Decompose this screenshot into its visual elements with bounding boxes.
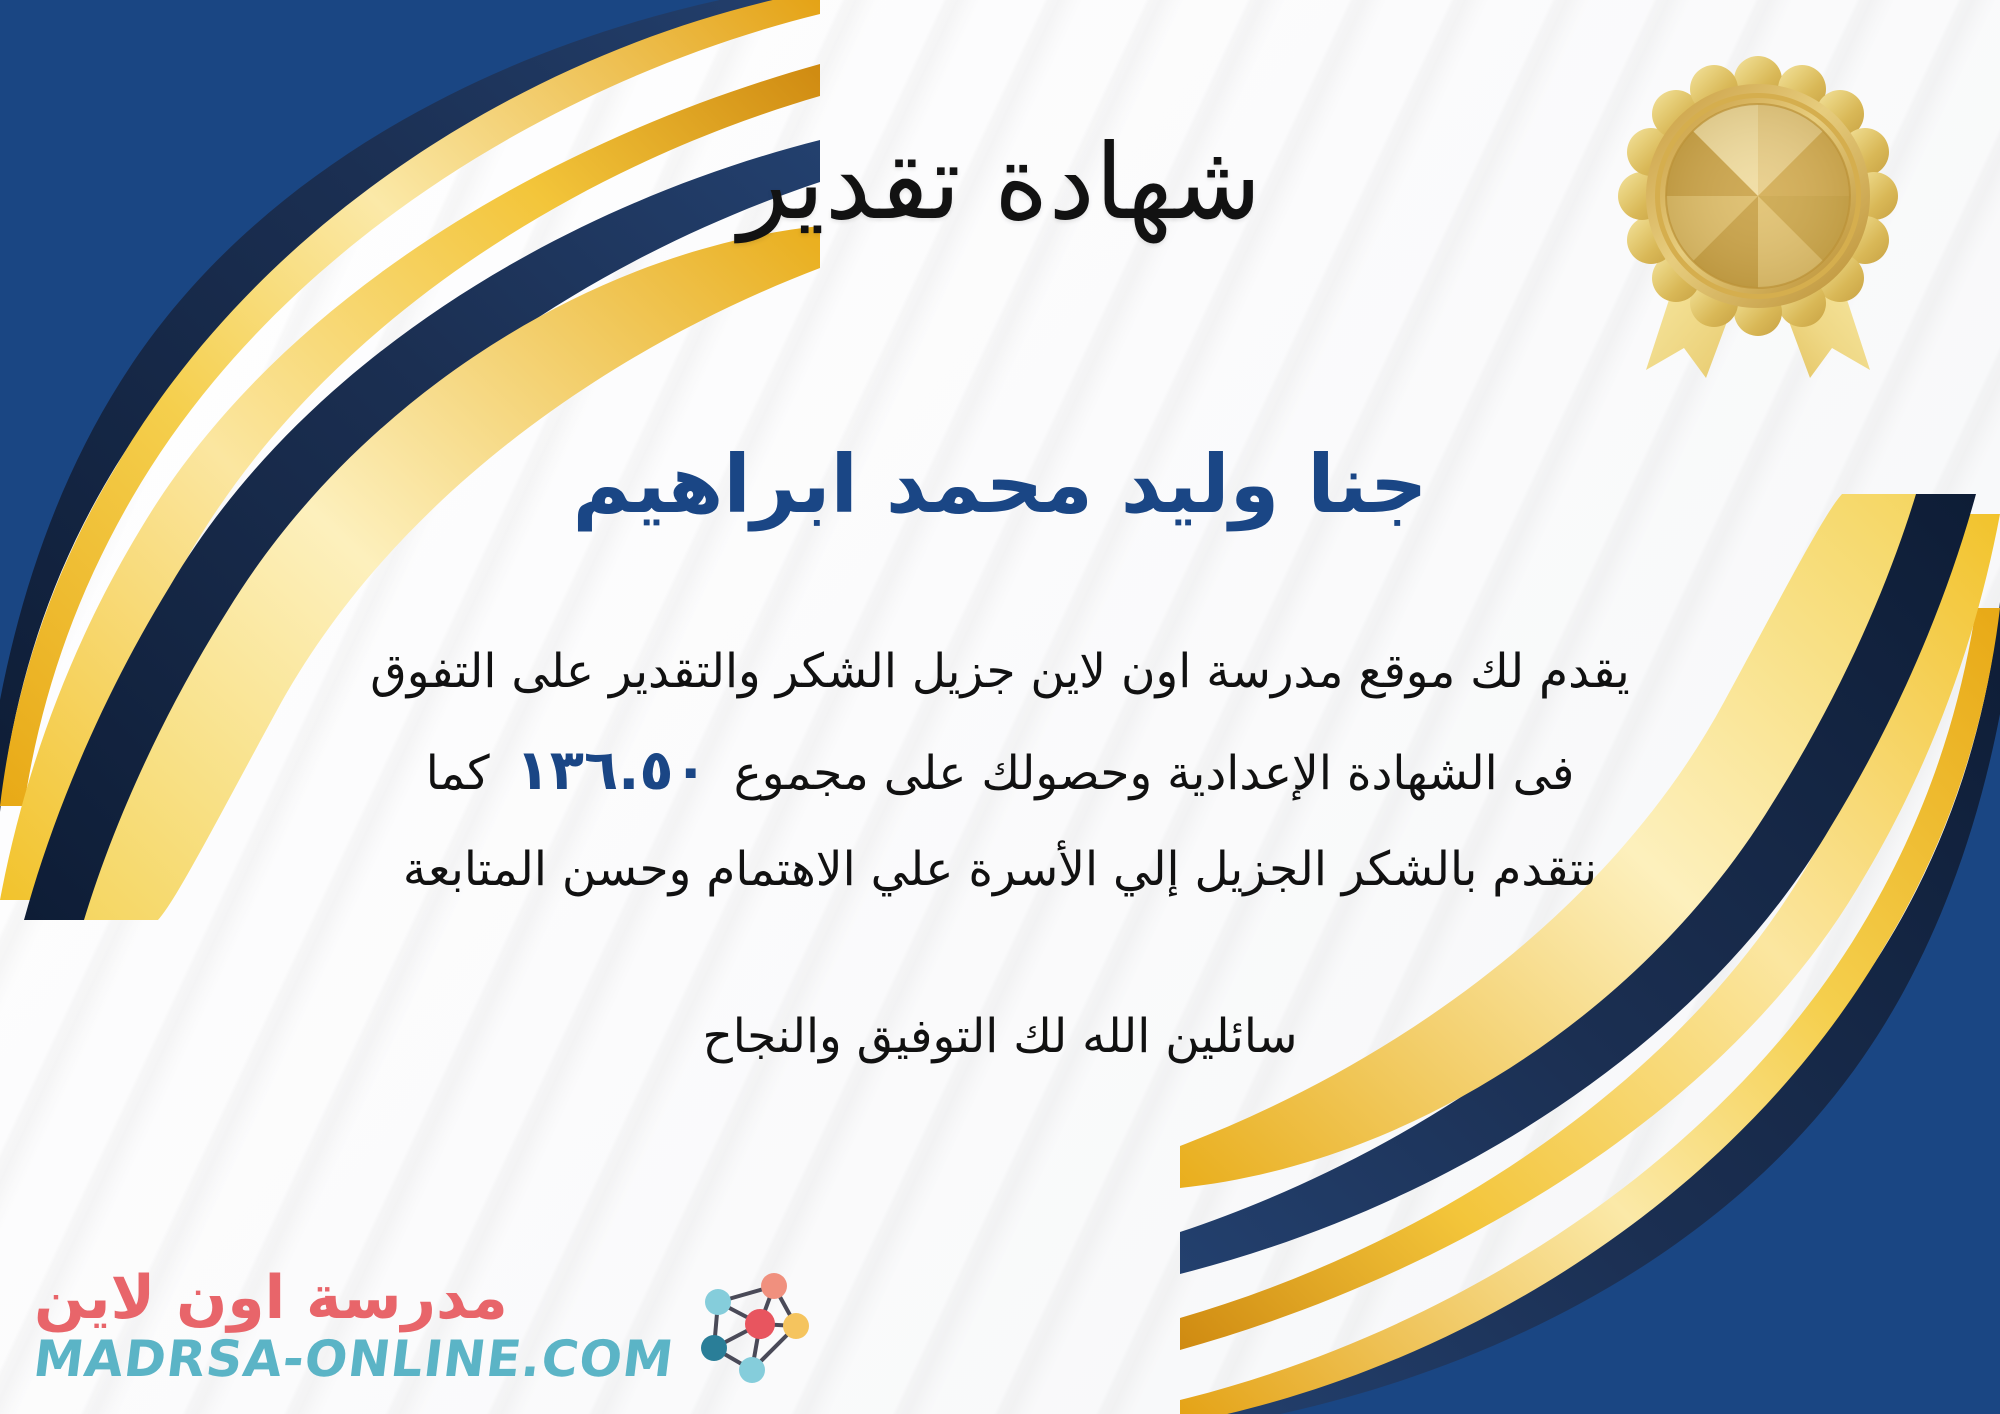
- closing-line: سائلين الله لك التوفيق والنجاح: [702, 997, 1297, 1077]
- page-title: شهادة تقدير: [738, 128, 1261, 237]
- certificate-body: يقدم لك موقع مدرسة اون لاين جزيل الشكر و…: [110, 627, 1890, 915]
- logo-text-group: مدرسة اون لاين MADRSA-ONLINE.COM: [34, 1268, 674, 1384]
- total-score-value: ١٣٦.٥٠: [490, 738, 734, 803]
- logo-arabic-name: مدرسة اون لاين: [34, 1268, 508, 1328]
- body-line-2-prefix: فى الشهادة الإعدادية وحصولك على مجموع: [734, 746, 1575, 801]
- body-line-3: نتقدم بالشكر الجزيل إلي الأسرة علي الاهت…: [110, 825, 1890, 915]
- body-line-2: فى الشهادة الإعدادية وحصولك على مجموع١٣٦…: [110, 717, 1890, 825]
- network-nodes-icon: [688, 1262, 816, 1390]
- site-logo[interactable]: مدرسة اون لاين MADRSA-ONLINE.COM: [34, 1262, 816, 1390]
- logo-domain-text: MADRSA-ONLINE.COM: [31, 1334, 677, 1384]
- recipient-name: جنا وليد محمد ابراهيم: [572, 439, 1427, 531]
- body-line-1: يقدم لك موقع مدرسة اون لاين جزيل الشكر و…: [110, 627, 1890, 717]
- certificate-content: شهادة تقدير جنا وليد محمد ابراهيم يقدم ل…: [0, 0, 2000, 1414]
- certificate-canvas: شهادة تقدير جنا وليد محمد ابراهيم يقدم ل…: [0, 0, 2000, 1414]
- body-line-2-suffix: كما: [426, 746, 490, 801]
